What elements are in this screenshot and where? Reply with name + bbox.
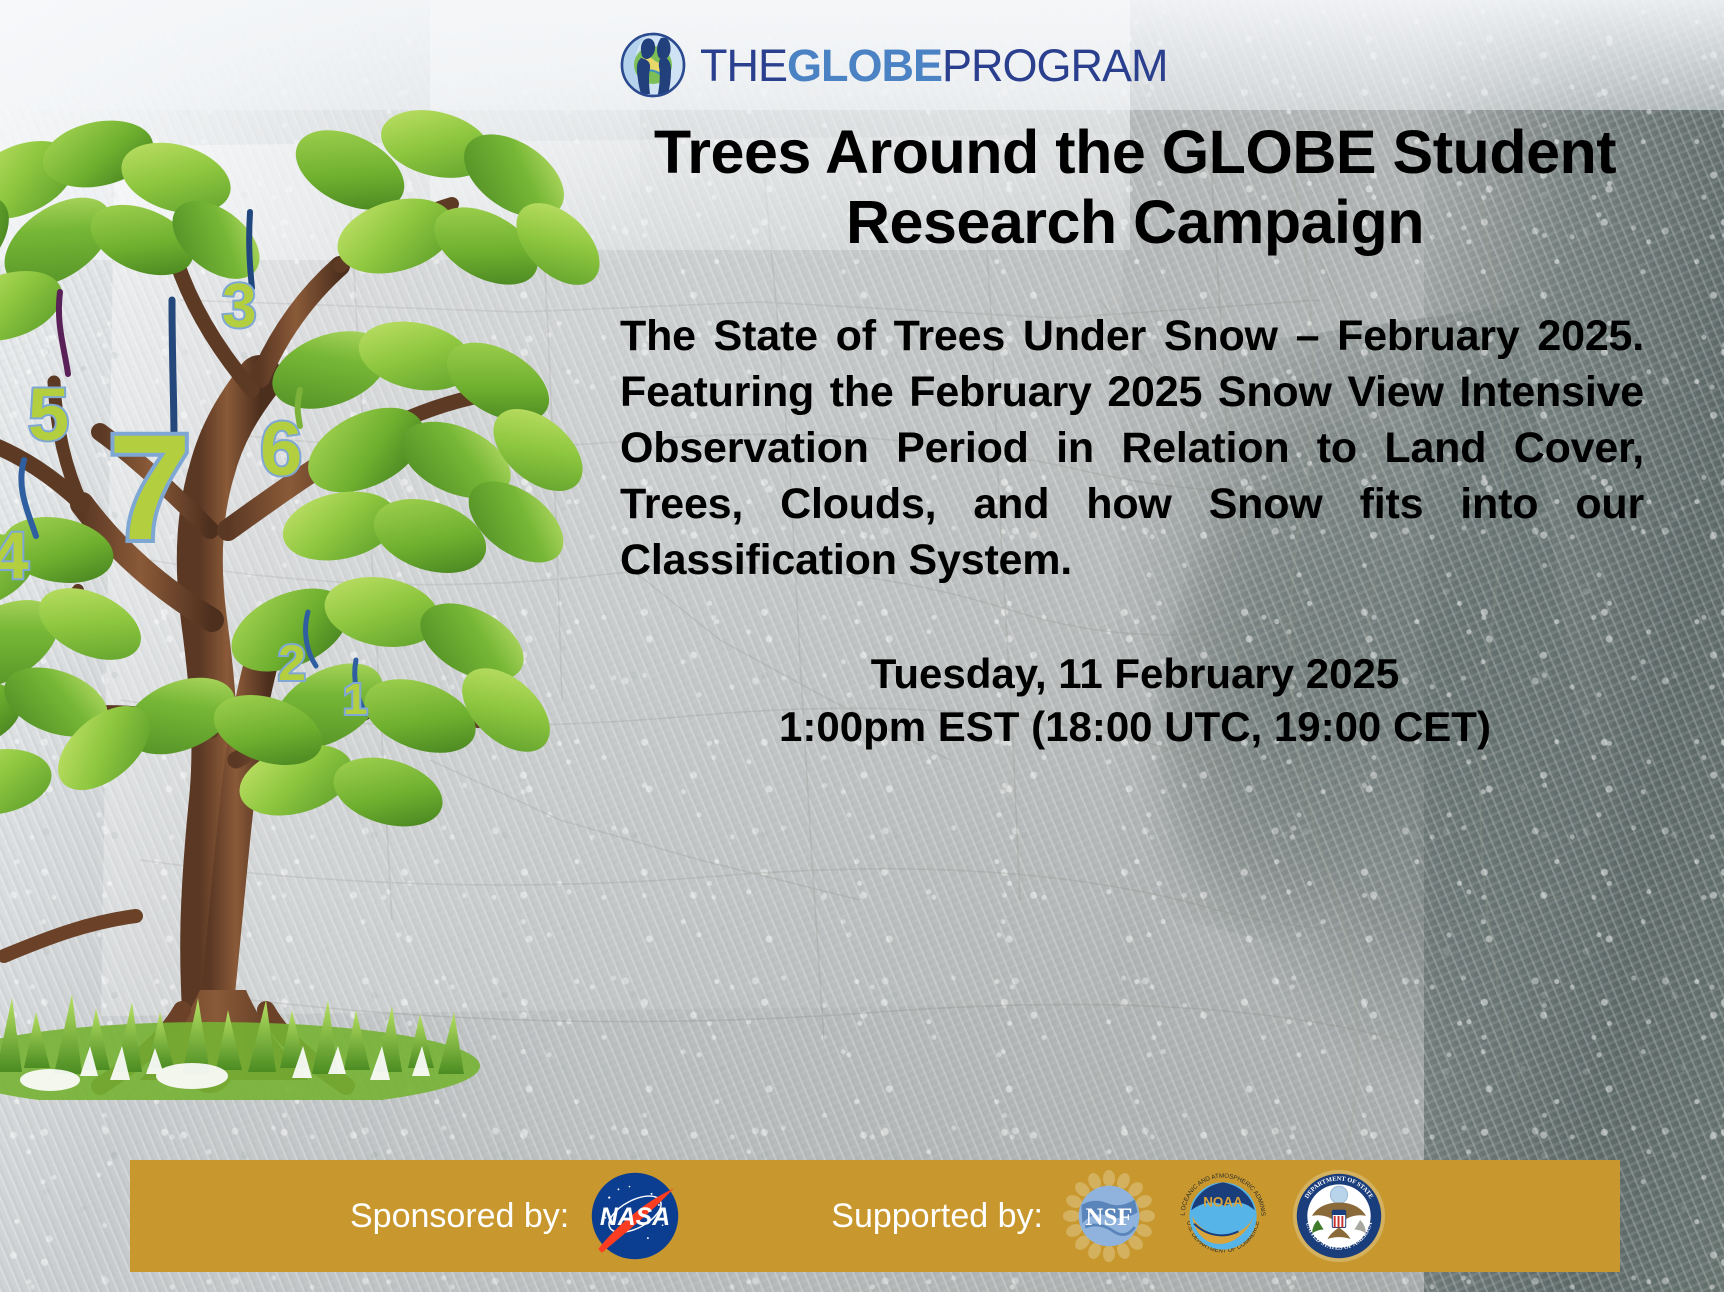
supported-by-group: Supported by: (831, 1168, 1387, 1264)
event-time: 1:00pm EST (18:00 UTC, 19:00 CET) (620, 700, 1650, 754)
nsf-wordmark: NSF (1086, 1204, 1133, 1231)
event-datetime: Tuesday, 11 February 2025 1:00pm EST (18… (620, 647, 1650, 755)
branch-number-4: 4 (0, 522, 29, 588)
noaa-logo: NATIONAL OCEANIC AND ATMOSPHERIC ADMINIS… (1175, 1168, 1271, 1264)
poster-content: Trees Around the GLOBE Student Research … (620, 118, 1650, 754)
supported-by-label: Supported by: (831, 1197, 1043, 1236)
branch-number-5: 5 (28, 378, 69, 452)
tree-illustration: 1 2 3 4 5 6 7 (0, 60, 600, 1100)
branch-number-3: 3 (222, 276, 256, 338)
logo-word-globe: GLOBE (787, 40, 942, 91)
event-date: Tuesday, 11 February 2025 (620, 647, 1650, 701)
webinar-poster: 1 2 3 4 5 6 7 THEGLOBEPROGRAM Trees Arou… (0, 0, 1724, 1292)
nasa-logo: NASA (589, 1170, 681, 1262)
branch-number-7: 7 (108, 412, 191, 562)
sponsored-by-label: Sponsored by: (350, 1197, 569, 1236)
branch-number-1: 1 (343, 678, 367, 722)
branch-number-2: 2 (278, 638, 306, 688)
nasa-wordmark: NASA (600, 1204, 670, 1231)
sponsor-bar: Sponsored by: NASA Supported by: (130, 1160, 1620, 1272)
sponsored-by-group: Sponsored by: NASA (350, 1170, 681, 1262)
globe-with-people-icon (620, 32, 686, 98)
globe-program-wordmark: THEGLOBEPROGRAM (700, 43, 1168, 88)
nsf-logo: NSF (1063, 1170, 1155, 1262)
logo-word-the: THE (700, 40, 787, 91)
globe-program-logo: THEGLOBEPROGRAM (620, 32, 1168, 98)
page-title: Trees Around the GLOBE Student Research … (620, 118, 1650, 257)
tree-graphic (0, 60, 600, 1100)
noaa-wordmark: NOAA (1203, 1194, 1243, 1209)
branch-number-6: 6 (260, 412, 302, 488)
description-paragraph: The State of Trees Under Snow – February… (620, 309, 1650, 588)
department-of-state-seal: DEPARTMENT OF STATE UNITED STATES OF AME… (1291, 1168, 1387, 1264)
logo-word-program: PROGRAM (942, 40, 1168, 91)
